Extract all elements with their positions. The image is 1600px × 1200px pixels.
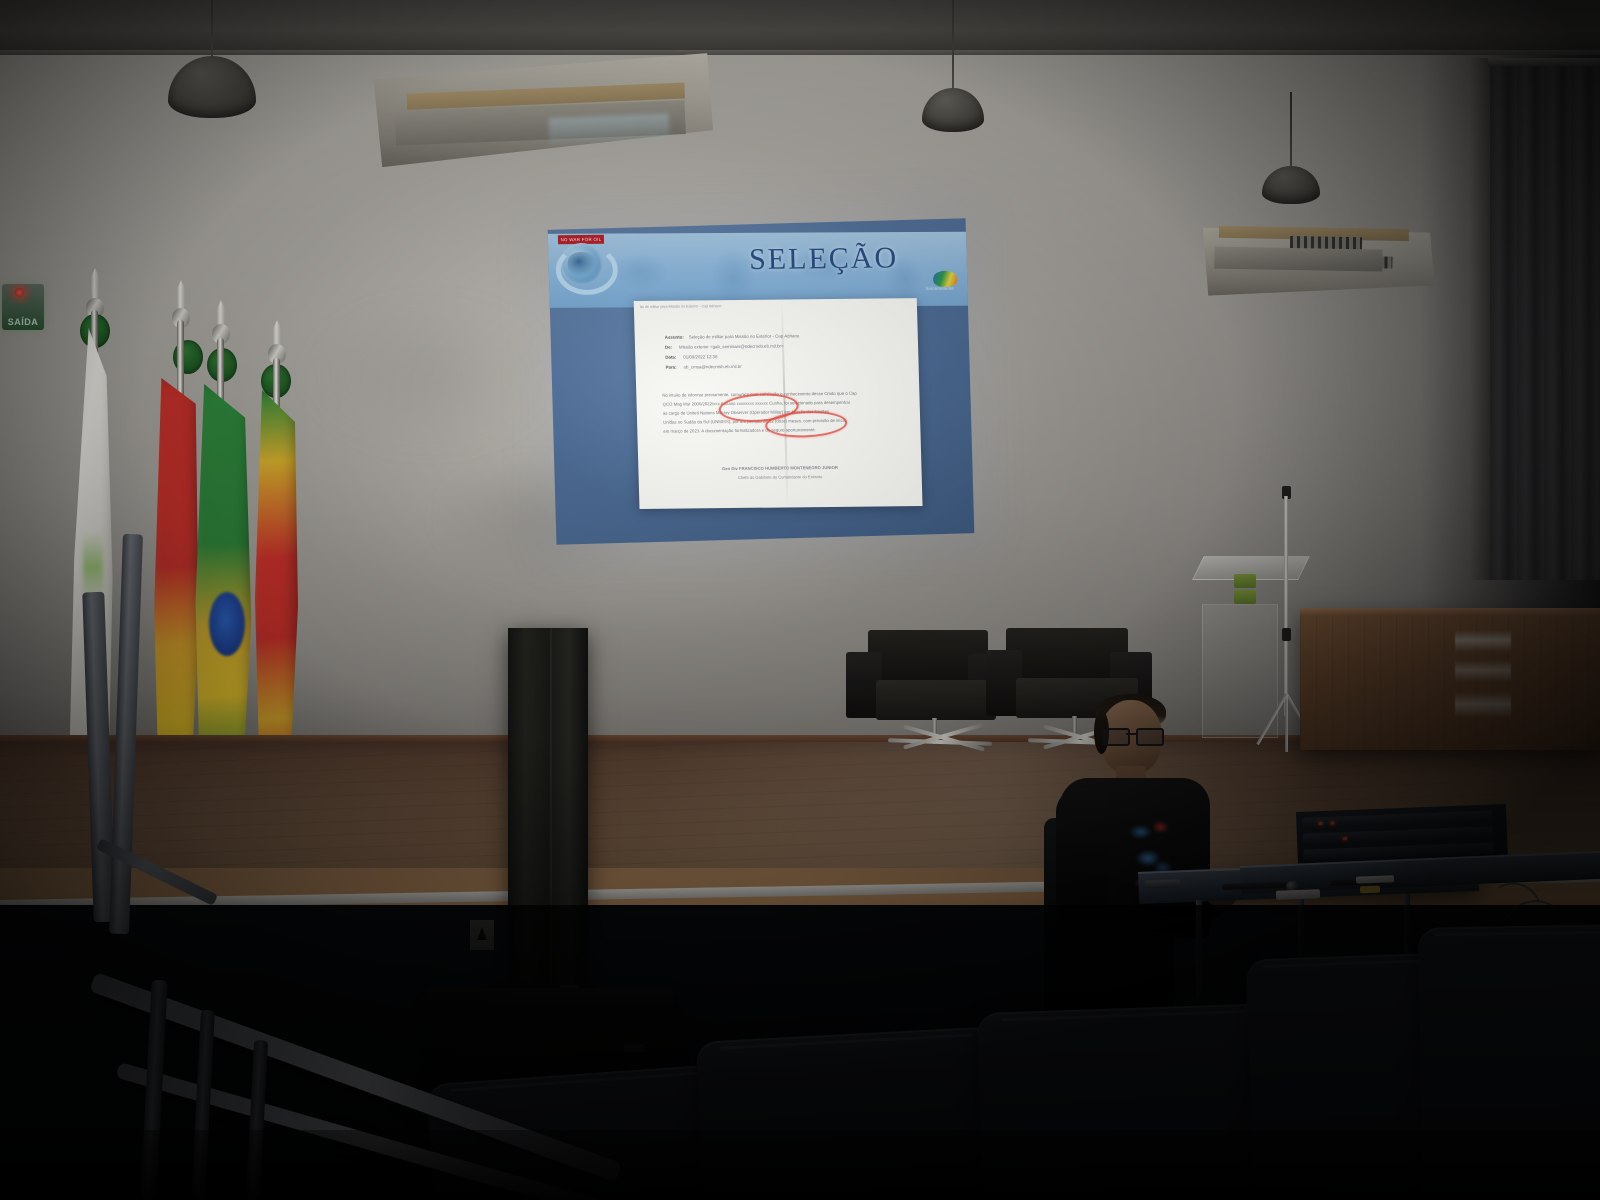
pendant-light bbox=[922, 0, 984, 140]
document-field-value: Seleção de militar para Missão no Exteri… bbox=[689, 332, 889, 339]
document-field-label: Data: bbox=[665, 355, 676, 360]
remote-control[interactable] bbox=[1276, 889, 1320, 900]
document-signature-name: Gen Div FRANCISCO HUMBERTO MONTENEGRO JU… bbox=[638, 464, 921, 472]
exit-sign-indicator-led bbox=[15, 288, 24, 297]
brand-logo: SinceraMente bbox=[931, 271, 960, 295]
shoulder bbox=[1056, 788, 1108, 908]
exit-sign: SAÍDA bbox=[2, 284, 44, 330]
air-conditioner-left bbox=[369, 35, 718, 186]
wooden-table bbox=[1300, 608, 1600, 750]
flag-finial bbox=[87, 268, 103, 302]
auditorium-scene: SAÍDA NO WAR FOR OIL SELEÇÃO SinceraMent… bbox=[0, 0, 1600, 1200]
document-field-label: De: bbox=[665, 345, 672, 350]
brand-caption: SinceraMente bbox=[925, 286, 953, 291]
document-signature-role: Chefe do Gabinete do Comandante do Exérc… bbox=[639, 473, 922, 481]
document-field-label: Assunto: bbox=[665, 335, 684, 340]
table-top-edge bbox=[1300, 608, 1600, 616]
pendant-light bbox=[1262, 92, 1320, 216]
document-top-caption: ão de militar para Missão no Exterior - … bbox=[640, 304, 722, 309]
remote-control[interactable] bbox=[1356, 875, 1394, 883]
floor-shadow bbox=[0, 1130, 1600, 1200]
pendant-light bbox=[168, 0, 256, 122]
lectern-accent bbox=[1234, 590, 1256, 604]
document-field-label: Para: bbox=[665, 365, 676, 370]
tripod-leg bbox=[1256, 693, 1288, 745]
document-field-value: Missão exterior <gab_seminaer@ndecmeb.eb… bbox=[679, 342, 894, 349]
ac-front-panel bbox=[1214, 247, 1382, 272]
sticky-note bbox=[1360, 886, 1380, 894]
ac-reflection bbox=[549, 113, 670, 144]
laptop[interactable] bbox=[1146, 879, 1180, 888]
glasses-icon bbox=[1102, 728, 1162, 742]
document-field-value: ob_cmsa@ndecmsb.eb.mil.br bbox=[683, 363, 833, 370]
slide-title: SELEÇÃO bbox=[698, 241, 949, 278]
curtain-rod bbox=[1488, 58, 1600, 66]
table-emblem bbox=[1455, 630, 1511, 730]
brazil-flag-disc bbox=[209, 592, 245, 656]
wall-curtain bbox=[1490, 60, 1600, 580]
tripod-leg bbox=[1285, 694, 1288, 752]
un-logo: NO WAR FOR OIL bbox=[554, 235, 610, 292]
tripod-pole bbox=[1284, 496, 1288, 716]
flag-rio-grande-do-sul-2 bbox=[251, 390, 301, 790]
parrot-icon bbox=[933, 271, 957, 287]
table-grain bbox=[1300, 616, 1600, 750]
document-field-value: 01/09/2022 12:36 bbox=[683, 353, 803, 359]
slide-document: ão de militar para Missão no Exterior - … bbox=[634, 298, 923, 509]
projection-screen: NO WAR FOR OIL SELEÇÃO SinceraMente ão d… bbox=[548, 218, 975, 545]
lectern-accent bbox=[1234, 574, 1256, 588]
tripod-adjuster bbox=[1282, 628, 1291, 641]
wall-stain bbox=[300, 295, 560, 455]
exit-sign-label: SAÍDA bbox=[2, 317, 44, 327]
